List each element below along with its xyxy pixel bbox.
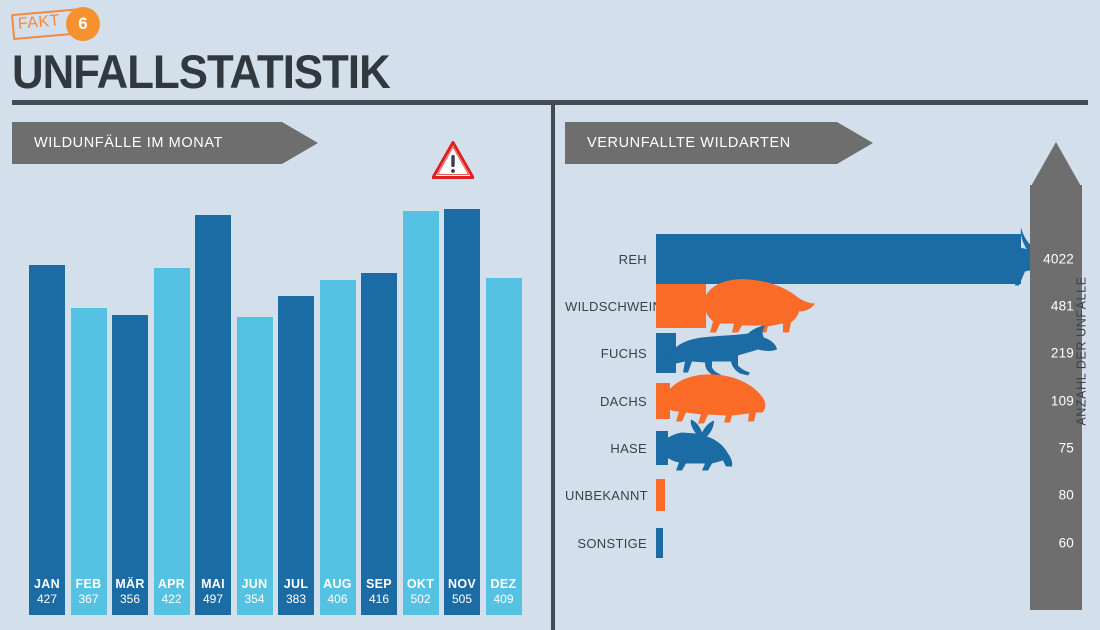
panel-divider [551, 100, 555, 630]
month-value: 502 [403, 592, 439, 608]
month-label-box: JUN354 [237, 570, 273, 615]
month-name: APR [154, 577, 190, 593]
month-bar [361, 273, 397, 570]
section-banner-species-label: VERUNFALLTE WILDARTEN [587, 135, 791, 151]
species-value: 109 [1051, 394, 1074, 409]
species-row: WILDSCHWEIN [565, 284, 1065, 328]
month-value: 427 [29, 592, 65, 608]
month-label-box: NOV505 [444, 570, 480, 615]
month-name: DEZ [486, 577, 522, 593]
fakt-badge: FAKT 6 [10, 4, 106, 44]
month-value: 367 [71, 592, 107, 608]
section-banner-monthly-label: WILDUNFÄLLE IM MONAT [34, 135, 223, 151]
month-bar-column: DEZ409 [486, 180, 522, 615]
month-label-box: SEP416 [361, 570, 397, 615]
banner-arrow-tip [837, 122, 873, 164]
month-bar [444, 209, 480, 570]
month-bar-column: JUN354 [237, 180, 273, 615]
species-value: 80 [1059, 488, 1074, 503]
species-row: SONSTIGE [565, 529, 1065, 557]
month-bar [154, 268, 190, 570]
month-value: 383 [278, 592, 314, 608]
month-value: 416 [361, 592, 397, 608]
section-banner-monthly: WILDUNFÄLLE IM MONAT [12, 122, 282, 164]
species-row: UNBEKANNT [565, 480, 1065, 510]
axis-arrow-head-icon [1030, 142, 1082, 188]
month-label-box: JAN427 [29, 570, 65, 615]
month-label-box: AUG406 [320, 570, 356, 615]
month-bar [112, 315, 148, 570]
month-label-box: APR422 [154, 570, 190, 615]
month-bar [486, 278, 522, 570]
fakt-badge-label: FAKT [17, 12, 60, 34]
month-bar-column: AUG406 [320, 180, 356, 615]
month-name: NOV [444, 577, 480, 593]
axis-caption: ANZAHL DER UNFÄLLE [1075, 276, 1089, 425]
monthly-bar-chart: JAN427FEB367MÄR356APR422MAI497JUN354JUL3… [29, 180, 529, 615]
species-label: DACHS [565, 394, 656, 409]
species-value: 60 [1059, 536, 1074, 551]
species-value: 481 [1051, 299, 1074, 314]
species-row: DACHS [565, 382, 1065, 420]
species-bar-track [656, 431, 1065, 465]
infographic-root: FAKT 6 UNFALLSTATISTIK WILDUNFÄLLE IM MO… [0, 0, 1100, 630]
month-bar-column: JAN427 [29, 180, 65, 615]
species-bar [656, 528, 663, 558]
section-banner-species: VERUNFALLTE WILDARTEN [565, 122, 837, 164]
month-bar [195, 215, 231, 570]
month-value: 422 [154, 592, 190, 608]
month-name: SEP [361, 577, 397, 593]
month-value: 505 [444, 592, 480, 608]
month-name: JUN [237, 577, 273, 593]
species-bar-track [656, 529, 1065, 557]
species-value: 75 [1059, 441, 1074, 456]
month-label-box: FEB367 [71, 570, 107, 615]
month-bar-column: SEP416 [361, 180, 397, 615]
species-bar-chart: REHWILDSCHWEINFUCHSDACHSHASEUNBEKANNTSON… [565, 180, 1065, 610]
month-bar-column: OKT502 [403, 180, 439, 615]
month-bar-column: MÄR356 [112, 180, 148, 615]
month-label-box: MÄR356 [112, 570, 148, 615]
month-name: OKT [403, 577, 439, 593]
species-bar-track [656, 382, 1065, 420]
month-name: JUL [278, 577, 314, 593]
month-bar-column: JUL383 [278, 180, 314, 615]
month-value: 354 [237, 592, 273, 608]
warning-triangle-icon [432, 141, 474, 179]
month-value: 497 [195, 592, 231, 608]
month-bar [71, 308, 107, 570]
month-bar-column: APR422 [154, 180, 190, 615]
month-value: 409 [486, 592, 522, 608]
month-value: 356 [112, 592, 148, 608]
month-value: 406 [320, 592, 356, 608]
month-bar-column: NOV505 [444, 180, 480, 615]
species-label: FUCHS [565, 346, 656, 361]
hare-icon [660, 420, 734, 477]
title-divider [12, 100, 1088, 105]
month-label-box: JUL383 [278, 570, 314, 615]
month-name: MAI [195, 577, 231, 593]
species-bar [656, 479, 665, 511]
month-name: FEB [71, 577, 107, 593]
species-label: WILDSCHWEIN [565, 299, 656, 314]
month-bar [403, 211, 439, 570]
species-label: SONSTIGE [565, 536, 656, 551]
month-name: JAN [29, 577, 65, 593]
species-bar-track [656, 480, 1065, 510]
species-label: UNBEKANNT [565, 488, 656, 503]
month-name: MÄR [112, 577, 148, 593]
species-bar-track [656, 333, 1065, 373]
month-bar [29, 265, 65, 570]
banner-arrow-tip [282, 122, 318, 164]
species-value: 219 [1051, 346, 1074, 361]
fakt-badge-number: 6 [66, 7, 100, 41]
month-label-box: MAI497 [195, 570, 231, 615]
month-bar-column: FEB367 [71, 180, 107, 615]
month-bar [320, 280, 356, 570]
species-value: 4022 [1043, 252, 1074, 267]
month-bar [278, 296, 314, 570]
month-bar-column: MAI497 [195, 180, 231, 615]
month-bar [237, 317, 273, 570]
month-label-box: DEZ409 [486, 570, 522, 615]
species-row: HASE [565, 431, 1065, 465]
month-label-box: OKT502 [403, 570, 439, 615]
month-name: AUG [320, 577, 356, 593]
species-bar-track [656, 284, 1065, 328]
species-label: HASE [565, 441, 656, 456]
species-label: REH [565, 252, 656, 267]
page-title: UNFALLSTATISTIK [12, 48, 390, 95]
species-row: FUCHS [565, 333, 1065, 373]
